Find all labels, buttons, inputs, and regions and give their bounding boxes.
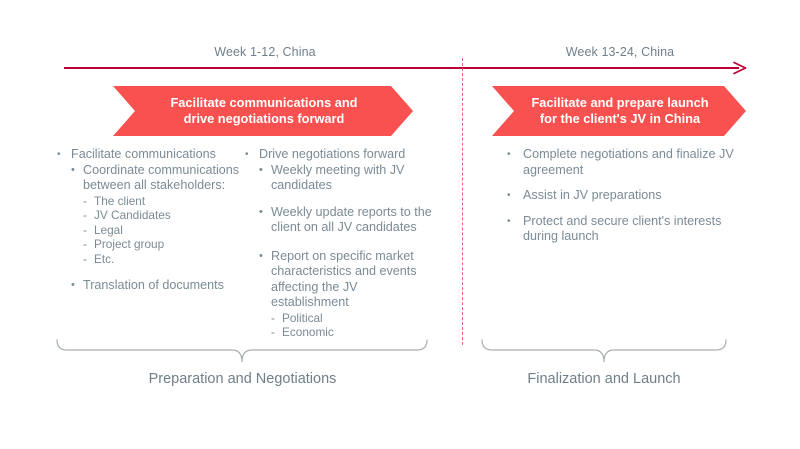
bullet-label: Protect and secure client's interests du…	[523, 214, 721, 244]
bullet-list-level1: Drive negotiations forward Weekly meetin…	[243, 147, 438, 340]
bullet-label: Report on specific market characteristic…	[271, 249, 417, 310]
phase-banner-2-line1: Facilitate and prepare launch	[531, 95, 708, 111]
footer-label-preparation-and-negotiations: Preparation and Negotiations	[55, 371, 430, 387]
bullet-label: Weekly meeting with JV candidates	[271, 163, 404, 193]
phase-title-week-1-12: Week 1-12, China	[115, 45, 415, 59]
brace-finalization-and-launch	[480, 338, 728, 366]
dash-list: Political Economic	[271, 311, 438, 340]
bullet-label: Drive negotiations forward	[259, 147, 405, 161]
bullet-label: Translation of documents	[83, 278, 224, 292]
phase-banner-2: Facilitate and prepare launch for the cl…	[492, 86, 746, 136]
list-item: JV Candidates	[83, 208, 240, 223]
bullet-label: Assist in JV preparations	[523, 188, 662, 202]
list-item: Assist in JV preparations	[505, 188, 740, 204]
bullet-label: Coordinate communications between all st…	[83, 163, 239, 193]
list-item: Facilitate communications Coordinate com…	[55, 147, 240, 294]
timeline-axis-line	[64, 67, 739, 69]
footer-label-finalization-and-launch: Finalization and Launch	[480, 371, 728, 387]
phase-title-week-13-24: Week 13-24, China	[490, 45, 750, 59]
brace-preparation-and-negotiations	[55, 338, 430, 366]
bullet-list-level1: Facilitate communications Coordinate com…	[55, 147, 240, 294]
list-item: Weekly update reports to the client on a…	[259, 205, 438, 236]
list-item: Protect and secure client's interests du…	[505, 214, 740, 245]
bullet-label: Facilitate communications	[71, 147, 216, 161]
list-item: The client	[83, 194, 240, 209]
list-item: Etc.	[83, 252, 240, 267]
list-item: Project group	[83, 237, 240, 252]
phase-banner-2-line2: for the client's JV in China	[531, 111, 708, 127]
bullet-label: Complete negotiations and finalize JV ag…	[523, 147, 734, 177]
phase-banner-1-line2: drive negotiations forward	[170, 111, 357, 127]
list-item: Coordinate communications between all st…	[71, 163, 240, 267]
list-item: Drive negotiations forward Weekly meetin…	[243, 147, 438, 340]
list-item: Report on specific market characteristic…	[259, 249, 438, 340]
bullet-label: Weekly update reports to the client on a…	[271, 205, 432, 235]
bullet-list-level1: Complete negotiations and finalize JV ag…	[505, 147, 740, 245]
list-item: Translation of documents	[71, 278, 240, 294]
bullet-list-level2: Coordinate communications between all st…	[71, 163, 240, 294]
dash-list: The client JV Candidates Legal Project g…	[83, 194, 240, 267]
bullet-list-level2: Weekly meeting with JV candidates Weekly…	[259, 163, 438, 340]
timeline-arrow-icon	[733, 61, 747, 75]
list-item: Legal	[83, 223, 240, 238]
phase-banner-1-line1: Facilitate communications and	[170, 95, 357, 111]
slide-canvas: Week 1-12, China Week 13-24, China Facil…	[0, 0, 800, 449]
bullet-column-1: Facilitate communications Coordinate com…	[55, 147, 240, 303]
list-item: Complete negotiations and finalize JV ag…	[505, 147, 740, 178]
list-item: Political	[271, 311, 438, 326]
phase-divider-dashed-line	[462, 58, 463, 345]
bullet-column-2: Drive negotiations forward Weekly meetin…	[243, 147, 438, 349]
bullet-column-3: Complete negotiations and finalize JV ag…	[505, 147, 740, 255]
phase-banner-1: Facilitate communications and drive nego…	[113, 86, 413, 136]
list-item: Weekly meeting with JV candidates	[259, 163, 438, 194]
